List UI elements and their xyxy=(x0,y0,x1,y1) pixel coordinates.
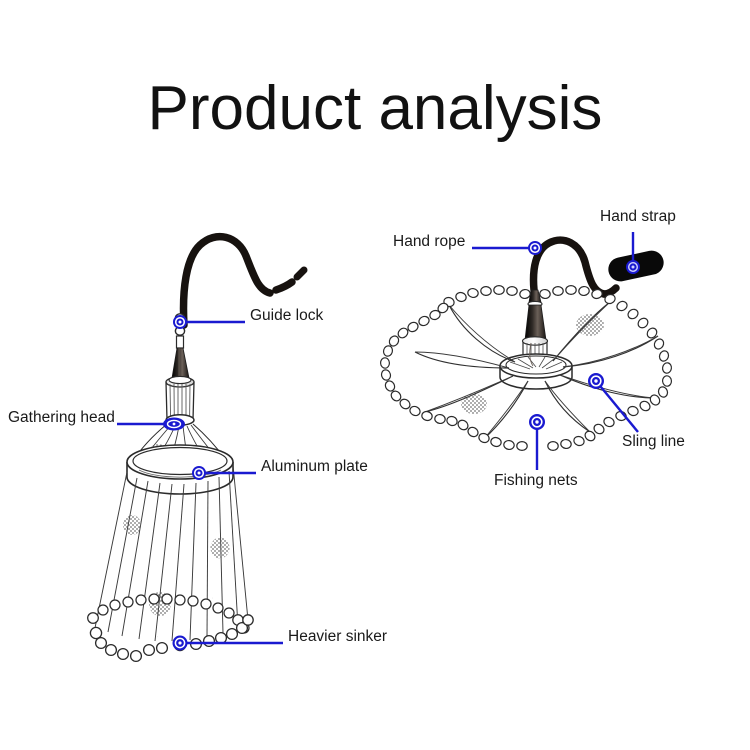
callout-label-heavier-sinker: Heavier sinker xyxy=(288,629,387,645)
callout-label-hand-strap: Hand strap xyxy=(600,209,676,225)
callout-label-gathering-head: Gathering head xyxy=(8,410,115,426)
marker-gathering-head xyxy=(163,418,185,431)
marker-heavier-sinker xyxy=(173,636,188,651)
aluminum-plate-ring xyxy=(127,445,233,494)
callout-label-fishing-nets: Fishing nets xyxy=(494,473,578,489)
callout-label-guide-lock: Guide lock xyxy=(250,308,323,324)
callout-label-sling-line: Sling line xyxy=(622,434,685,450)
net-center-column-right xyxy=(500,290,572,389)
marker-sling-line xyxy=(588,373,604,389)
callout-label-hand-rope: Hand rope xyxy=(393,234,465,250)
marker-hand-strap xyxy=(626,260,640,274)
product-analysis-poster: Product analysis xyxy=(0,0,750,750)
callout-label-aluminum-plate: Aluminum plate xyxy=(261,459,368,475)
marker-hand-rope xyxy=(528,241,542,255)
marker-guide-lock xyxy=(173,315,187,329)
marker-fishing-nets xyxy=(529,414,545,430)
hand-rope-shape-right xyxy=(534,240,616,294)
net-shaft-left xyxy=(172,348,189,378)
marker-aluminum-plate xyxy=(192,466,206,480)
net-chain-upper-left xyxy=(88,594,251,637)
closed-net-diagram xyxy=(88,237,304,662)
gathering-collar-left xyxy=(166,376,194,425)
